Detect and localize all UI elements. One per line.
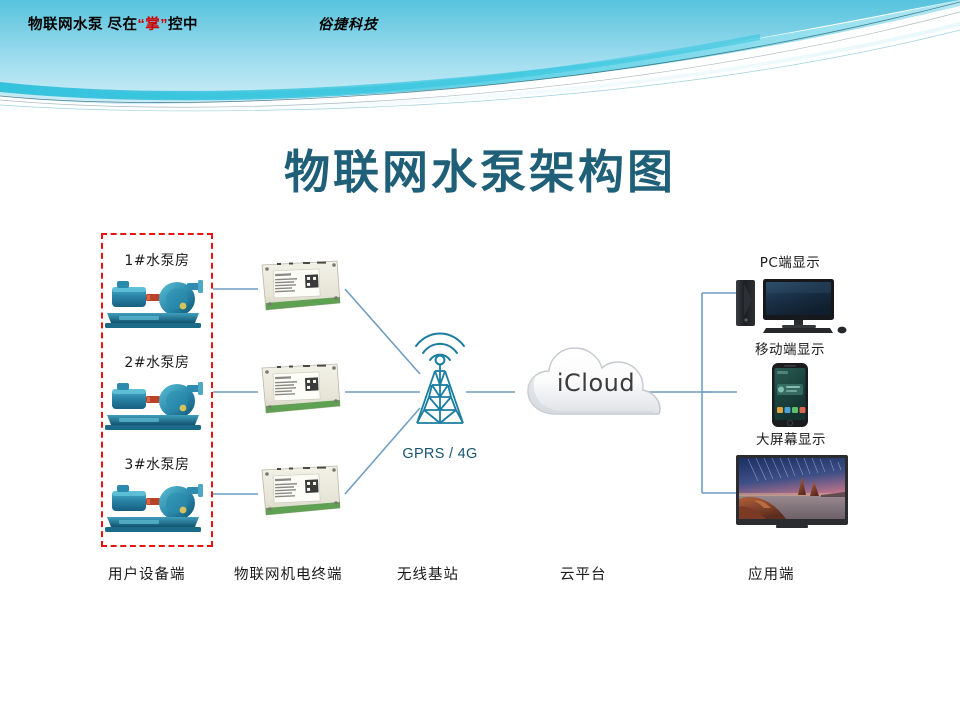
app-mobile-display-label: 移动端显示 xyxy=(730,338,850,358)
water-pump-icon xyxy=(103,273,211,331)
wireless-base-station[interactable]: GPRS / 4G xyxy=(383,327,497,462)
app-pc-display[interactable]: PC端显示 xyxy=(730,251,850,341)
header-quote-close: ” xyxy=(160,17,168,33)
header-slogan-part2: 控中 xyxy=(168,17,198,33)
app-large-screen-display[interactable]: 大屏幕显示 xyxy=(726,428,856,534)
header-slogan: 物联网水泵 尽在“掌”控中 xyxy=(28,13,198,34)
pump-room-2-label: 2#水泵房 xyxy=(101,352,213,372)
app-mobile-display[interactable]: 移动端显示 xyxy=(730,338,850,434)
stage-label-user-equipment: 用户设备端 xyxy=(108,563,186,584)
water-pump-icon xyxy=(103,477,211,535)
header-slogan-highlight: 掌 xyxy=(145,17,160,33)
pump-room-1-label: 1#水泵房 xyxy=(101,250,213,270)
base-station-label: GPRS / 4G xyxy=(383,446,497,462)
cell-tower-icon xyxy=(383,327,497,439)
iot-gateway-icon[interactable] xyxy=(259,464,343,520)
pump-room-1[interactable]: 1#水泵房 xyxy=(101,250,213,336)
app-large-screen-display-label: 大屏幕显示 xyxy=(726,428,856,448)
stage-label-application: 应用端 xyxy=(748,563,795,584)
header-slogan-part1: 物联网水泵 尽在 xyxy=(28,17,138,33)
water-pump-icon xyxy=(103,375,211,433)
large-screen-tv-icon xyxy=(726,451,856,529)
desktop-computer-icon xyxy=(730,274,850,336)
pump-room-2[interactable]: 2#水泵房 xyxy=(101,352,213,438)
cloud-label: iCloud xyxy=(512,369,680,397)
app-pc-display-label: PC端显示 xyxy=(730,251,850,271)
slide-canvas: 物联网水泵 尽在“掌”控中 俗捷科技 物联网水泵架构图 xyxy=(0,0,960,720)
stage-label-iot-terminal: 物联网机电终端 xyxy=(234,563,343,584)
smartphone-icon xyxy=(730,361,850,429)
iot-gateway-icon[interactable] xyxy=(259,259,343,315)
stage-label-base-station: 无线基站 xyxy=(397,563,459,584)
stage-label-cloud-platform: 云平台 xyxy=(560,563,607,584)
pump-room-3-label: 3#水泵房 xyxy=(101,454,213,474)
company-name: 俗捷科技 xyxy=(318,14,378,34)
pump-room-3[interactable]: 3#水泵房 xyxy=(101,454,213,540)
iot-gateway-icon[interactable] xyxy=(259,362,343,418)
cloud-platform[interactable]: iCloud xyxy=(512,340,680,426)
architecture-diagram: 1#水泵房 xyxy=(0,0,960,720)
